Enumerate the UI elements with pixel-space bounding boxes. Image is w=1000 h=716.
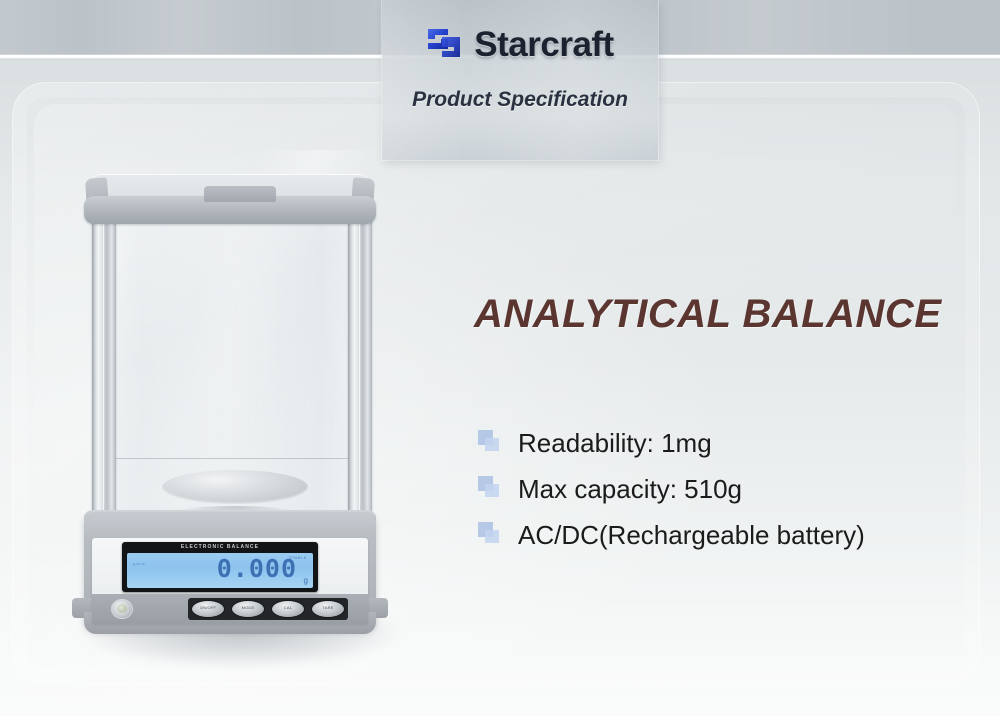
lcd-unit: g (304, 576, 308, 585)
analytical-balance-image: ELECTRONIC BALANCE g ct oz STABLE 0.000 … (70, 160, 410, 680)
plaque-subtitle: Product Specification (382, 88, 658, 112)
square-bullet-icon (478, 430, 500, 452)
pillar-highlight-left (103, 220, 104, 520)
lcd-unit-indicators: g ct oz (133, 561, 145, 567)
weighing-pan-surface (162, 470, 308, 504)
lid-handle (204, 186, 276, 202)
glass-seam (106, 458, 354, 459)
list-item: Readability: 1mg (474, 420, 974, 466)
power-button[interactable] (112, 600, 132, 618)
spec-list: Readability: 1mg Max capacity: 510g AC/D… (474, 420, 974, 558)
brand-plaque: Starcraft Product Specification (382, 0, 658, 160)
brand-name: Starcraft (474, 27, 613, 62)
square-bullet-icon (478, 522, 500, 544)
list-item: Max capacity: 510g (474, 466, 974, 512)
draft-shield-pillar-right (348, 216, 372, 522)
draft-shield-pillar-left (92, 216, 116, 522)
square-bullet-icon (478, 476, 500, 498)
key-mode[interactable]: MODE (232, 601, 264, 617)
spec-text: Readability: 1mg (518, 428, 712, 459)
keypad: ON/OFF MODE CAL TARE (188, 598, 348, 620)
key-tare[interactable]: TARE (312, 601, 344, 617)
spec-text: AC/DC(Rechargeable battery) (518, 520, 865, 551)
pillar-highlight-right (359, 220, 360, 520)
lcd-bezel: ELECTRONIC BALANCE g ct oz STABLE 0.000 … (122, 542, 318, 592)
list-item: AC/DC(Rechargeable battery) (474, 512, 974, 558)
lcd-reading: 0.000 (217, 556, 297, 581)
spec-text: Max capacity: 510g (518, 474, 742, 505)
key-cal[interactable]: CAL (272, 601, 304, 617)
brand-row: Starcraft (382, 18, 658, 70)
key-on-off[interactable]: ON/OFF (192, 601, 224, 617)
lcd-screen: g ct oz STABLE 0.000 g (127, 553, 313, 588)
lcd-caption: ELECTRONIC BALANCE (122, 544, 318, 550)
page-title: ANALYTICAL BALANCE (474, 292, 942, 337)
starcraft-logo-icon (426, 27, 464, 61)
poster-canvas: Starcraft Product Specification ANALYTIC… (0, 0, 1000, 716)
